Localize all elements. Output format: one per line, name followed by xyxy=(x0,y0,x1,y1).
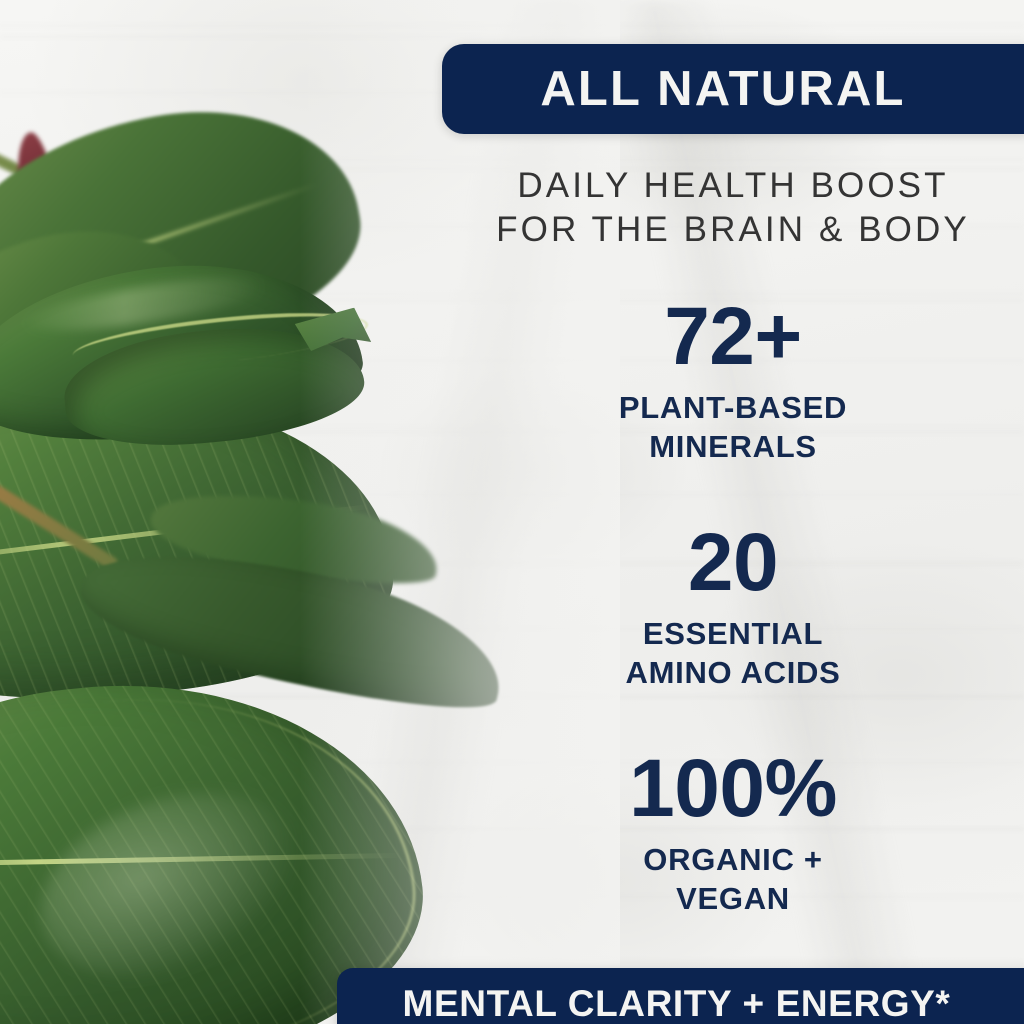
stat-label-organic-vegan: ORGANIC + VEGAN xyxy=(442,841,1024,919)
product-infographic: ALL NATURAL DAILY HEALTH BOOST FOR THE B… xyxy=(0,0,1024,1024)
stat-label-minerals-line-2: MINERALS xyxy=(442,428,1024,467)
stat-label-amino-acids-line-1: ESSENTIAL xyxy=(442,615,1024,654)
top-banner-label: ALL NATURAL xyxy=(540,61,905,117)
bottom-banner-label: MENTAL CLARITY + ENERGY* xyxy=(403,983,951,1024)
stat-label-organic-vegan-line-1: ORGANIC + xyxy=(442,841,1024,880)
stat-label-minerals: PLANT-BASED MINERALS xyxy=(442,389,1024,467)
stat-label-amino-acids-line-2: AMINO ACIDS xyxy=(442,654,1024,693)
stat-label-minerals-line-1: PLANT-BASED xyxy=(442,389,1024,428)
stat-number-amino-acids: 20 xyxy=(442,523,1024,603)
stat-item-organic-vegan: 100% ORGANIC + VEGAN xyxy=(442,749,1024,919)
subtitle: DAILY HEALTH BOOST FOR THE BRAIN & BODY xyxy=(442,164,1024,253)
stat-label-organic-vegan-line-2: VEGAN xyxy=(442,880,1024,919)
stat-number-minerals: 72+ xyxy=(442,297,1024,377)
bottom-banner: MENTAL CLARITY + ENERGY* xyxy=(337,968,1024,1024)
top-banner: ALL NATURAL xyxy=(442,44,1024,134)
subtitle-line-1: DAILY HEALTH BOOST xyxy=(442,164,1024,208)
content-column: DAILY HEALTH BOOST FOR THE BRAIN & BODY … xyxy=(442,150,1024,918)
stat-number-organic-vegan: 100% xyxy=(442,749,1024,829)
stats-list: 72+ PLANT-BASED MINERALS 20 ESSENTIAL AM… xyxy=(442,297,1024,919)
stat-label-amino-acids: ESSENTIAL AMINO ACIDS xyxy=(442,615,1024,693)
subtitle-line-2: FOR THE BRAIN & BODY xyxy=(442,208,1024,252)
stat-item-minerals: 72+ PLANT-BASED MINERALS xyxy=(442,297,1024,467)
stat-item-amino-acids: 20 ESSENTIAL AMINO ACIDS xyxy=(442,523,1024,693)
